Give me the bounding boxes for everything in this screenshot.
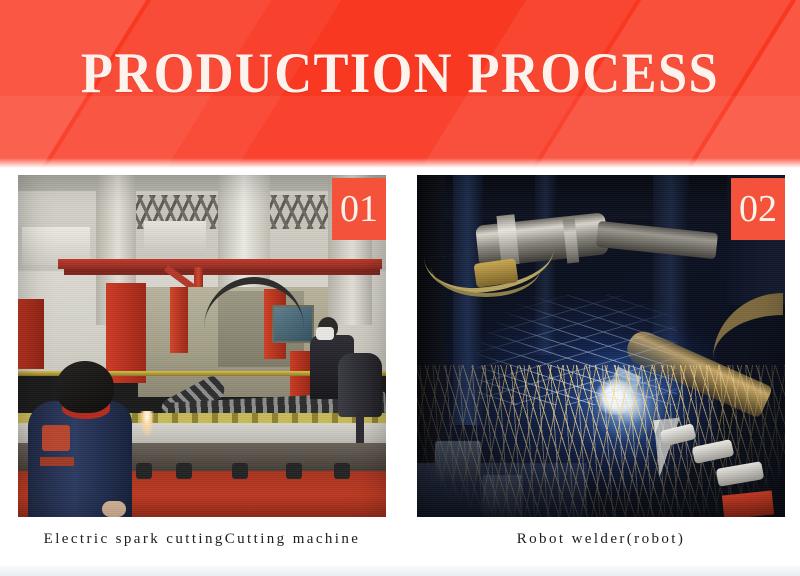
- electric-spark-cutting-machine-photo[interactable]: 01: [18, 175, 386, 517]
- step-number-badge-01: 01: [332, 178, 386, 240]
- machine-red-panel-b: [170, 287, 188, 353]
- foreground-worker-hand: [102, 501, 126, 517]
- step-number-badge-02: 02: [731, 178, 785, 240]
- process-card-caption-02: Robot welder(robot): [417, 529, 785, 550]
- process-card-01[interactable]: 01 Electric spark cuttingCutting machine: [18, 175, 386, 550]
- bed-clamp-5: [286, 463, 302, 479]
- process-card-02[interactable]: 02 Robot welder(robot): [417, 175, 785, 550]
- process-card-caption-01: Electric spark cuttingCutting machine: [18, 529, 386, 550]
- operator-chair: [338, 353, 382, 417]
- bed-clamp-3: [176, 463, 192, 479]
- page-title: PRODUCTION PROCESS: [32, 44, 768, 104]
- red-fixture-part: [722, 490, 774, 517]
- robot-welder-photo[interactable]: 02: [417, 175, 785, 517]
- red-overhead-gantry-rail-shadow: [64, 269, 380, 275]
- page-header-banner: PRODUCTION PROCESS: [0, 0, 800, 168]
- process-card-list: 01 Electric spark cuttingCutting machine: [0, 168, 800, 576]
- foreground-worker-head: [56, 361, 114, 413]
- bed-clamp-4: [232, 463, 248, 479]
- page-bottom-band: [0, 566, 800, 576]
- bed-clamp-2: [136, 463, 152, 479]
- bed-clamp-6: [334, 463, 350, 479]
- workshop-window-2: [144, 221, 206, 255]
- worker-uniform-text: [40, 457, 74, 466]
- worker-uniform-logo: [42, 425, 70, 451]
- machine-red-panel-left: [18, 299, 44, 369]
- red-overhead-gantry-rail: [58, 259, 382, 269]
- machine-red-panel-a: [106, 283, 146, 383]
- operator-face-mask: [316, 327, 334, 340]
- cutting-torch-spark: [140, 411, 154, 437]
- operator-chair-post: [356, 411, 364, 443]
- banner-bottom-fade: [0, 158, 800, 168]
